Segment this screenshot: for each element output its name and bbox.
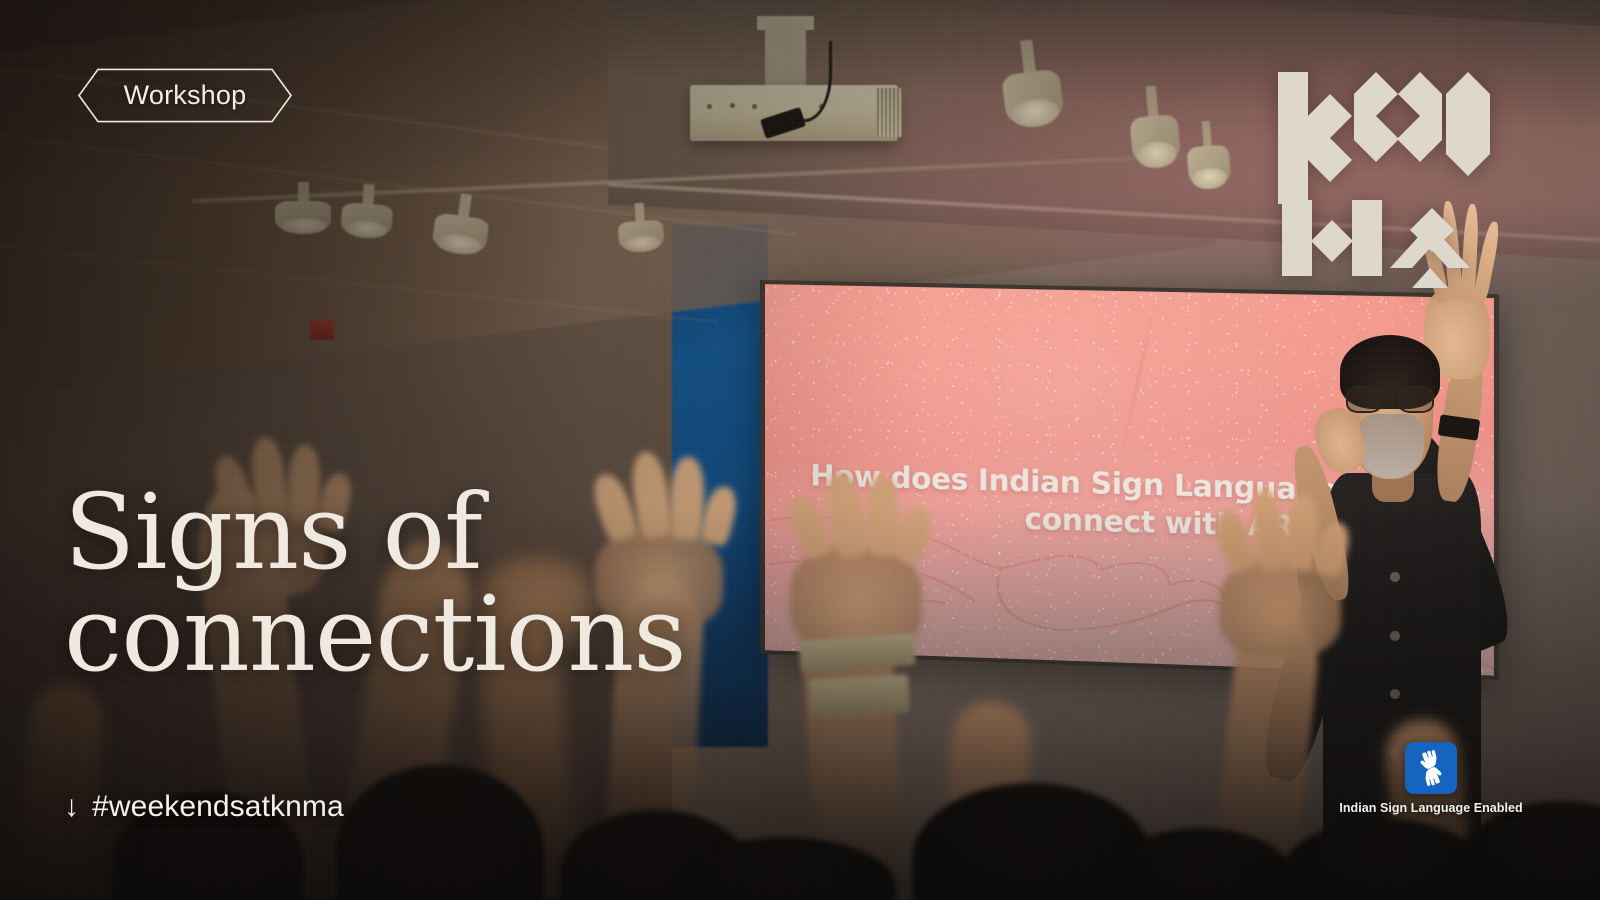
isl-badge[interactable]: Indian Sign Language Enabled (1356, 742, 1506, 815)
poster-canvas: How does Indian Sign Language connect wi… (0, 0, 1600, 900)
knma-logo[interactable] (1272, 56, 1500, 288)
page-title-line-1: Signs of (64, 482, 686, 584)
hashtag-label: #weekendsatknma (92, 790, 344, 824)
workshop-badge-label: Workshop (124, 80, 247, 111)
sign-language-icon (1405, 742, 1457, 794)
page-title-line-2: connections (64, 584, 686, 686)
workshop-badge[interactable]: Workshop (65, 68, 305, 123)
page-title: Signs of connections (64, 482, 686, 686)
sign-language-hands-icon (1411, 748, 1451, 788)
hashtag-callout[interactable]: ↓ #weekendsatknma (64, 790, 344, 824)
poster-overlay: Workshop Signs of connections ↓ #weekend… (0, 0, 1600, 900)
arrow-down-icon: ↓ (64, 792, 79, 822)
knma-logo-icon (1272, 56, 1500, 288)
isl-badge-label: Indian Sign Language Enabled (1339, 801, 1522, 815)
